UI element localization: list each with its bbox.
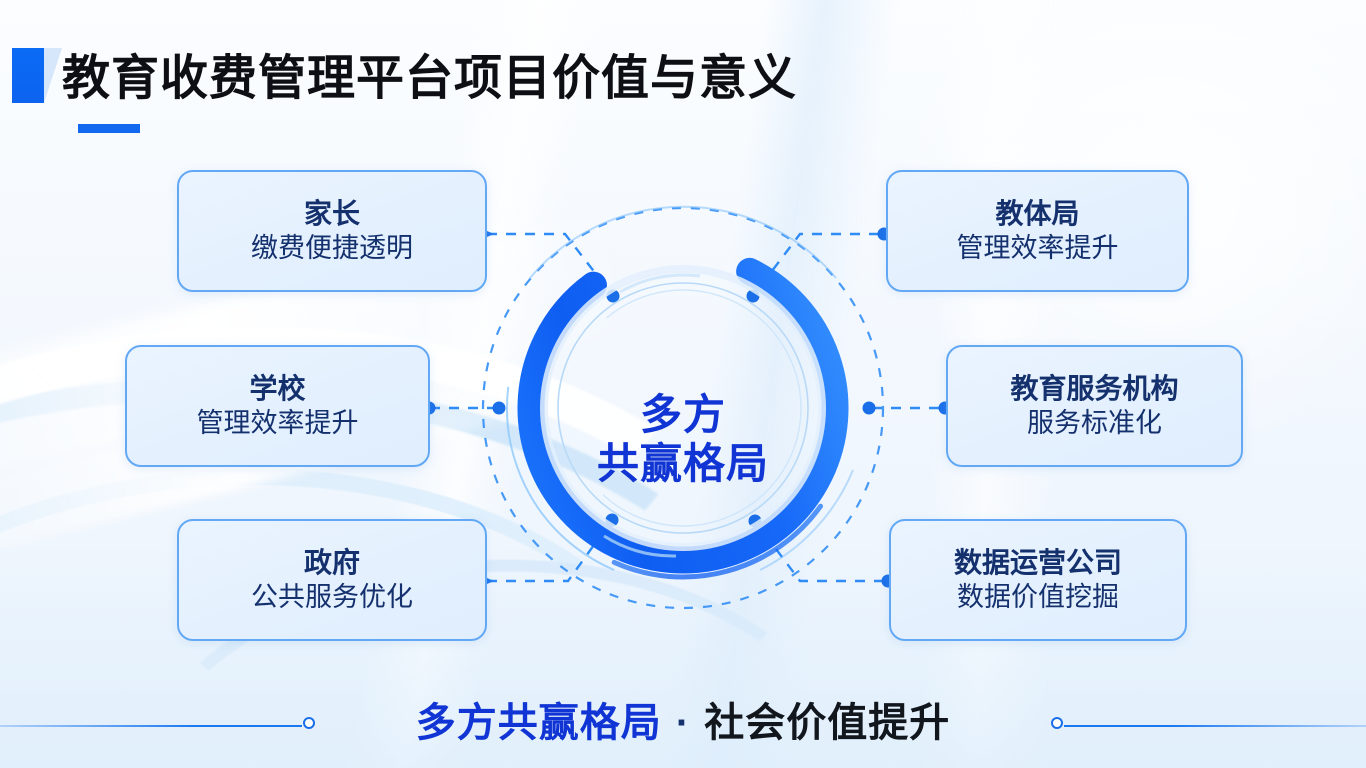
- footer-tagline-rest: 社会价值提升: [704, 701, 950, 745]
- card-school-title: 学校: [249, 372, 305, 405]
- card-data-company-subtitle: 数据价值挖掘: [957, 581, 1119, 613]
- card-government[interactable]: 政府 公共服务优化: [177, 519, 487, 641]
- card-edu-bureau-title: 教体局: [995, 197, 1079, 230]
- card-government-subtitle: 公共服务优化: [251, 581, 413, 613]
- card-edu-service-title: 教育服务机构: [1010, 372, 1178, 405]
- card-edu-service[interactable]: 教育服务机构 服务标准化: [946, 345, 1243, 467]
- footer-tagline-separator: ·: [662, 701, 705, 745]
- center-hub: 多方 共赢格局: [493, 250, 873, 630]
- center-line-2: 共赢格局: [597, 440, 769, 489]
- card-parent-subtitle: 缴费便捷透明: [251, 232, 413, 264]
- card-edu-bureau-subtitle: 管理效率提升: [957, 232, 1119, 264]
- card-data-company-title: 数据运营公司: [954, 546, 1122, 579]
- card-edu-service-subtitle: 服务标准化: [1027, 407, 1162, 439]
- center-hub-text: 多方 共赢格局: [493, 250, 873, 630]
- card-school-subtitle: 管理效率提升: [197, 407, 359, 439]
- card-government-title: 政府: [304, 546, 360, 579]
- card-school[interactable]: 学校 管理效率提升: [125, 345, 430, 467]
- center-line-1: 多方: [640, 391, 726, 440]
- footer-tagline: 多方共赢格局 · 社会价值提升: [0, 690, 1366, 748]
- slide-canvas: 教育收费管理平台项目价值与意义: [0, 0, 1366, 768]
- card-data-company[interactable]: 数据运营公司 数据价值挖掘: [889, 519, 1187, 641]
- card-parent-title: 家长: [304, 197, 360, 230]
- card-parent[interactable]: 家长 缴费便捷透明: [177, 170, 487, 292]
- card-edu-bureau[interactable]: 教体局 管理效率提升: [886, 170, 1189, 292]
- footer-tagline-highlight: 多方共赢格局: [416, 701, 662, 745]
